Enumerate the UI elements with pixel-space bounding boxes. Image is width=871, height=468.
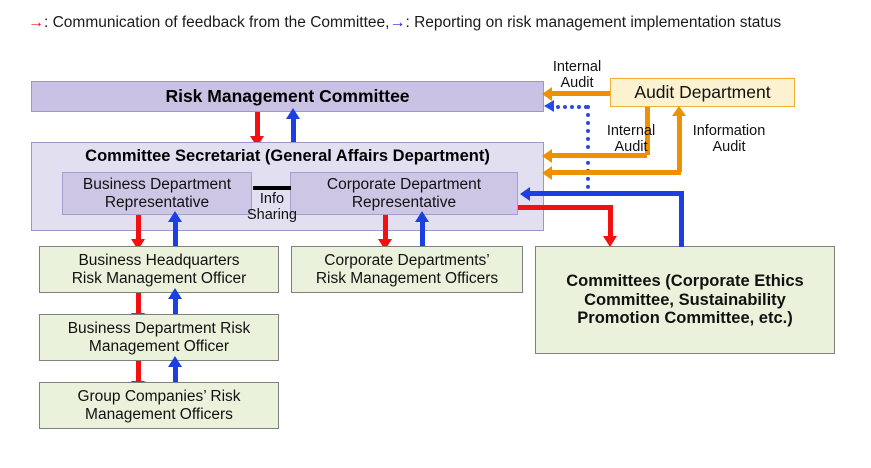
legend-blue-arrow-icon: →	[389, 14, 405, 31]
edge-rep-to-business-hq-red	[136, 215, 141, 241]
edge-group-to-dept-blue-arrowhead	[168, 356, 182, 367]
edge-label-internal-audit-top: Internal Audit	[539, 60, 615, 92]
node-business-department-representative[interactable]: Business Department Representative	[62, 172, 252, 215]
edge-business-hq-to-rep-blue-arrowhead	[168, 211, 182, 222]
edge-secretariat-to-committee-blue-arrowhead	[286, 108, 300, 119]
edge-info-sharing-connector	[253, 186, 291, 190]
node-group-companies-officers[interactable]: Group Companies’ Risk Management Officer…	[39, 382, 279, 429]
edge-rep-to-corporate-officers-red	[383, 215, 388, 241]
edge-committees-to-rep-blue-v	[679, 191, 684, 247]
node-business-headquarters-officer[interactable]: Business Headquarters Risk Management Of…	[39, 246, 279, 293]
edge-secretariat-to-committee-blue	[291, 117, 296, 144]
edge-information-audit-up-arrowhead	[672, 106, 686, 116]
edge-rep-to-committees-red-arrowhead	[603, 236, 617, 247]
node-committees[interactable]: Committees (Corporate Ethics Committee, …	[535, 246, 835, 354]
edge-rep-to-committees-red-v	[608, 205, 613, 238]
edge-information-audit-arrowhead	[542, 166, 552, 180]
edge-business-hq-to-rep-blue	[173, 220, 178, 246]
edge-information-audit-h	[551, 170, 681, 175]
edge-dotted-blue-arrowhead	[544, 100, 554, 112]
diagram-canvas: →: Communication of feedback from the Co…	[0, 0, 871, 468]
edge-dept-to-hq-blue-arrowhead	[168, 288, 182, 299]
secretariat-title: Committee Secretariat (General Affairs D…	[42, 147, 533, 166]
edge-dotted-blue-h	[556, 105, 588, 109]
node-business-department-officer[interactable]: Business Department Risk Management Offi…	[39, 314, 279, 361]
edge-rep-to-committees-red-h	[518, 205, 613, 210]
edge-dotted-blue-v	[586, 105, 590, 189]
edge-internal-audit-arrowhead	[542, 149, 552, 163]
edge-committees-to-rep-blue-arrowhead	[520, 187, 530, 201]
legend-blue-label: : Reporting on risk management implement…	[405, 14, 781, 31]
legend: →: Communication of feedback from the Co…	[28, 14, 781, 32]
edge-committees-to-rep-blue-h	[530, 191, 684, 196]
node-audit-department[interactable]: Audit Department	[610, 78, 795, 107]
edge-corporate-officers-to-rep-blue	[420, 220, 425, 246]
edge-hq-to-dept-red	[136, 293, 141, 315]
edge-label-information-audit: Information Audit	[676, 124, 782, 156]
node-corporate-departments-officers[interactable]: Corporate Departments’ Risk Management O…	[291, 246, 523, 293]
edge-committee-to-secretariat-red	[255, 112, 260, 138]
edge-label-info-sharing: Info Sharing	[236, 192, 308, 224]
legend-red-arrow-icon: →	[28, 14, 44, 31]
edge-corporate-officers-to-rep-blue-arrowhead	[415, 211, 429, 222]
edge-label-internal-audit-mid: Internal Audit	[593, 124, 669, 156]
edge-dept-to-group-red	[136, 361, 141, 383]
legend-red-label: : Communication of feedback from the Com…	[44, 14, 389, 31]
node-corporate-department-representative[interactable]: Corporate Department Representative	[290, 172, 518, 215]
